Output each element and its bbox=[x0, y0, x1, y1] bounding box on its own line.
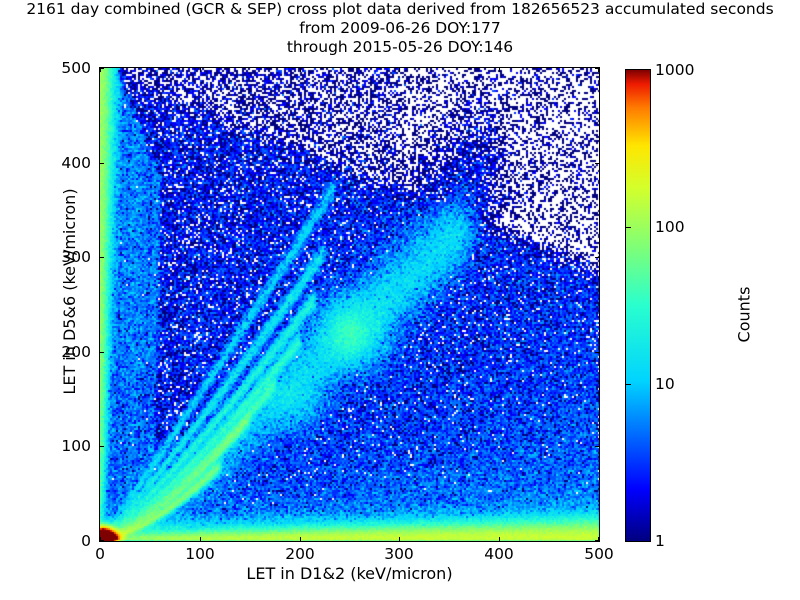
colorbar-label: Counts bbox=[735, 205, 754, 425]
y-tick-mark bbox=[100, 540, 104, 541]
x-tick-mark bbox=[399, 68, 400, 72]
colorbar-tick-label: 100 bbox=[655, 218, 685, 236]
figure-title: 2161 day combined (GCR & SEP) cross plot… bbox=[0, 0, 800, 57]
y-tick-mark-right bbox=[595, 257, 599, 258]
x-tick-label: 200 bbox=[285, 545, 315, 563]
x-tick-mark bbox=[200, 68, 201, 72]
y-tick-mark bbox=[100, 352, 104, 353]
x-tick-mark-top bbox=[200, 537, 201, 541]
colorbar-tick-mark bbox=[626, 227, 631, 228]
colorbar-tick-label: 1 bbox=[655, 532, 665, 550]
title-line-3: through 2015-05-26 DOY:146 bbox=[0, 38, 800, 57]
x-tick-label: 400 bbox=[484, 545, 514, 563]
y-tick-mark bbox=[100, 257, 104, 258]
y-tick-mark bbox=[100, 68, 104, 69]
y-tick-mark-right bbox=[595, 446, 599, 447]
x-tick-label: 100 bbox=[185, 545, 215, 563]
colorbar-tick-label: 10 bbox=[655, 375, 675, 393]
title-line-1: 2161 day combined (GCR & SEP) cross plot… bbox=[0, 0, 800, 19]
colorbar-tick-label: 1000 bbox=[655, 61, 694, 79]
colorbar bbox=[625, 69, 651, 542]
y-tick-mark-right bbox=[595, 352, 599, 353]
x-tick-label: 300 bbox=[384, 545, 414, 563]
y-tick-mark-right bbox=[595, 68, 599, 69]
x-tick-mark bbox=[300, 68, 301, 72]
x-tick-mark-top bbox=[399, 537, 400, 541]
figure-canvas: 2161 day combined (GCR & SEP) cross plot… bbox=[0, 0, 800, 600]
colorbar-tick-mark bbox=[626, 384, 631, 385]
x-tick-mark-top bbox=[300, 537, 301, 541]
x-tick-label: 500 bbox=[584, 545, 614, 563]
y-axis-label: LET in D5&6 (keV/micron) bbox=[60, 54, 79, 529]
x-tick-mark bbox=[499, 68, 500, 72]
x-tick-label: 0 bbox=[95, 545, 105, 563]
colorbar-gradient bbox=[626, 70, 650, 541]
y-tick-mark bbox=[100, 446, 104, 447]
title-line-2: from 2009-06-26 DOY:177 bbox=[0, 19, 800, 38]
y-tick-mark-right bbox=[595, 540, 599, 541]
plot-area bbox=[99, 67, 600, 542]
density-scatter-plot bbox=[100, 68, 599, 541]
y-tick-mark bbox=[100, 163, 104, 164]
x-tick-mark-top bbox=[499, 537, 500, 541]
y-tick-label: 0 bbox=[81, 532, 91, 550]
y-tick-mark-right bbox=[595, 163, 599, 164]
x-axis-label: LET in D1&2 (keV/micron) bbox=[99, 564, 600, 583]
